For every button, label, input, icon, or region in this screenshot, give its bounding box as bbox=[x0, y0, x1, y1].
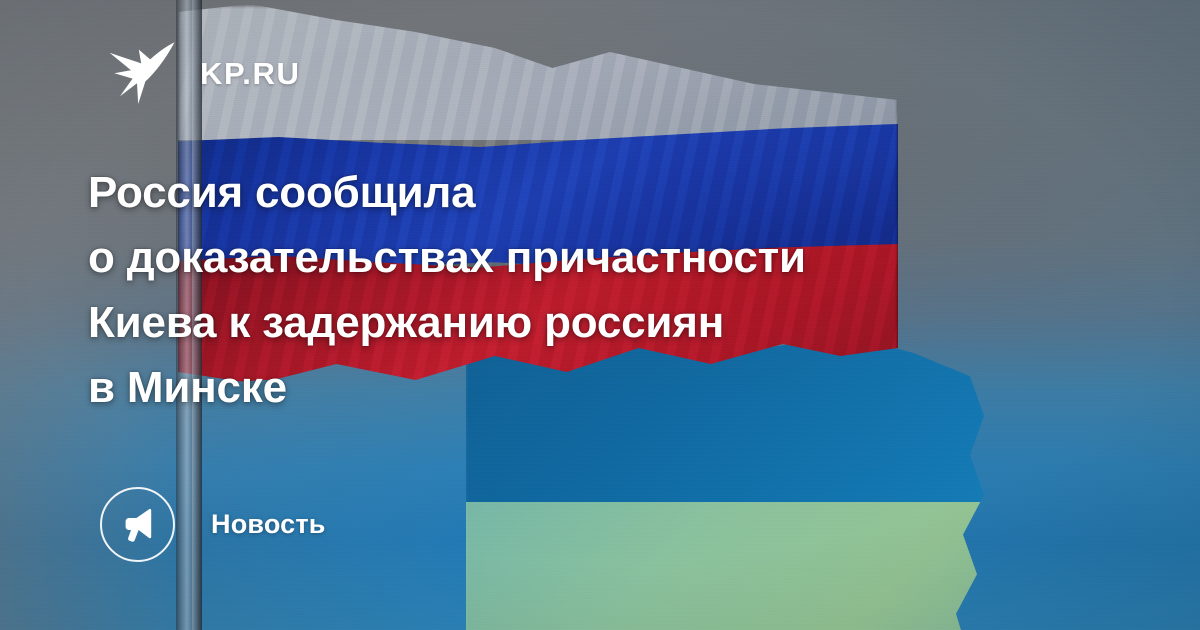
badge-label: Новость bbox=[211, 511, 326, 538]
headline-line-4: в Минске bbox=[88, 355, 1098, 420]
page-title: Россия сообщила о доказательствах причас… bbox=[88, 160, 1098, 420]
category-badge[interactable]: Новость bbox=[100, 487, 326, 562]
card-content: KP.RU Россия сообщила о доказательствах … bbox=[0, 0, 1200, 630]
news-share-card: KP.RU Россия сообщила о доказательствах … bbox=[0, 0, 1200, 630]
headline-line-2: о доказательствах причастности bbox=[88, 225, 1098, 290]
headline-line-1: Россия сообщила bbox=[88, 160, 1098, 225]
badge-circle bbox=[100, 487, 175, 562]
brand-name: KP.RU bbox=[200, 58, 300, 89]
headline-line-3: Киева к задержанию россиян bbox=[88, 290, 1098, 355]
brand-logo[interactable]: KP.RU bbox=[108, 40, 300, 106]
swallow-bird-icon bbox=[108, 40, 176, 106]
megaphone-icon bbox=[118, 505, 158, 545]
